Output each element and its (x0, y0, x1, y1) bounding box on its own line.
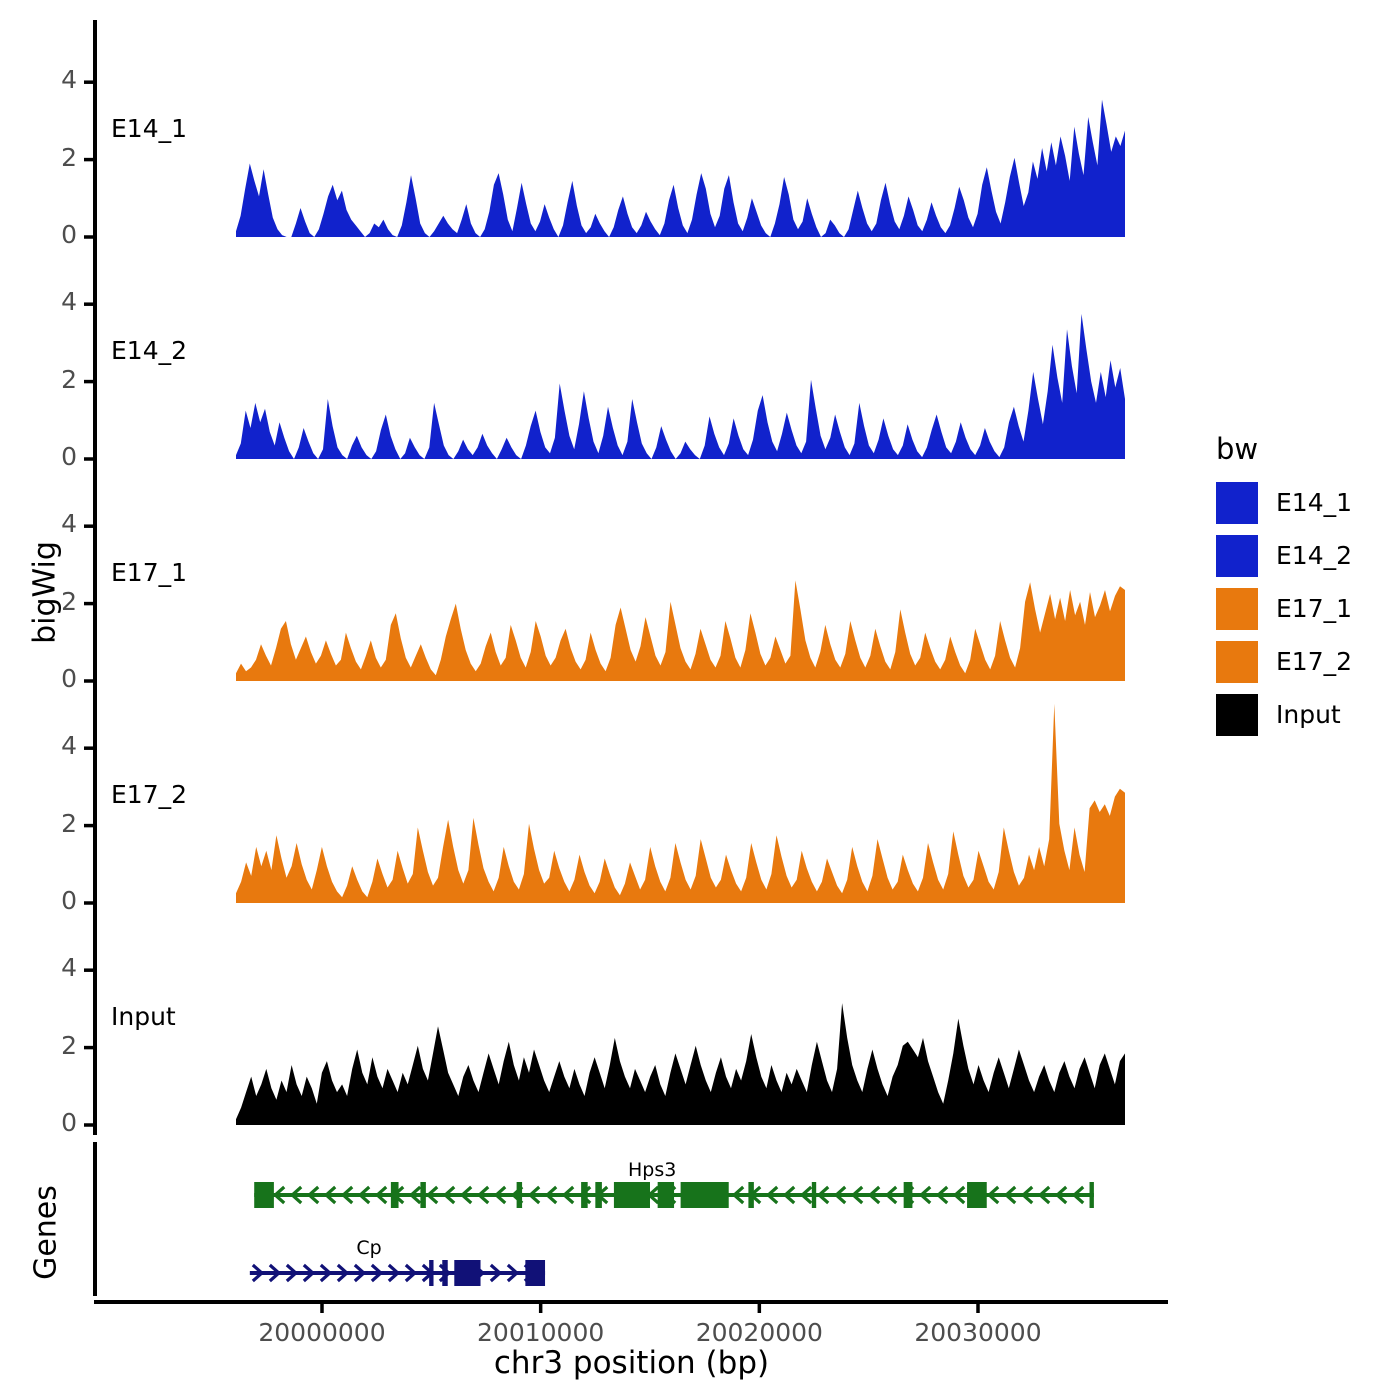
plot-canvas (0, 0, 1400, 1400)
y-tick-label: 0 (35, 220, 77, 249)
legend-swatch-Input[interactable] (1216, 694, 1258, 736)
panel-axis-E14_1 (84, 20, 95, 247)
legend-label-E14_1: E14_1 (1276, 488, 1352, 517)
panel-label-E17_2: E17_2 (111, 780, 187, 809)
x-tick-label: 20020000 (649, 1318, 869, 1347)
panel-label-E17_1: E17_1 (111, 558, 187, 587)
y-tick-label: 4 (35, 509, 77, 538)
y-tick-label: 2 (35, 143, 77, 172)
y-tick-label: 4 (35, 65, 77, 94)
panel-axis-E17_2 (84, 686, 95, 913)
gene-Hps3[interactable] (254, 1182, 1094, 1208)
x-tick-label: 20000000 (212, 1318, 432, 1347)
gene-label-Cp: Cp (309, 1237, 429, 1259)
x-tick-label: 20030000 (868, 1318, 1088, 1347)
legend-swatch-E14_1[interactable] (1216, 482, 1258, 524)
panel-label-E14_1: E14_1 (111, 114, 187, 143)
panel-axis-E17_1 (84, 464, 95, 691)
figure-root: bigWig Genes chr3 position (bp) 024E14_1… (0, 0, 1400, 1400)
y-tick-label: 4 (35, 287, 77, 316)
legend-swatch-E14_2[interactable] (1216, 535, 1258, 577)
wig-area-E14_2 (236, 314, 1125, 459)
y-tick-label: 0 (35, 664, 77, 693)
wig-area-Input (236, 1003, 1125, 1125)
legend-label-E14_2: E14_2 (1276, 541, 1352, 570)
legend-swatch-E17_2[interactable] (1216, 641, 1258, 683)
panel-label-Input: Input (111, 1002, 176, 1031)
y-tick-label: 2 (35, 809, 77, 838)
legend-label-Input: Input (1276, 700, 1341, 729)
gene-Cp[interactable] (250, 1260, 545, 1286)
y-tick-label: 2 (35, 587, 77, 616)
y-tick-label: 4 (35, 731, 77, 760)
legend-title: bw (1216, 432, 1258, 466)
panel-label-E14_2: E14_2 (111, 336, 187, 365)
y-tick-label: 0 (35, 1108, 77, 1137)
y-tick-label: 0 (35, 886, 77, 915)
y-tick-label: 2 (35, 365, 77, 394)
wig-area-E17_1 (236, 580, 1125, 681)
y-tick-label: 0 (35, 442, 77, 471)
x-tick-label: 20010000 (431, 1318, 651, 1347)
panel-axis-Input (84, 908, 95, 1135)
wig-area-E17_2 (236, 704, 1125, 903)
wig-area-E14_1 (236, 100, 1125, 237)
y-tick-label: 2 (35, 1031, 77, 1060)
y-tick-label: 4 (35, 953, 77, 982)
panel-axis-E14_2 (84, 242, 95, 469)
gene-label-Hps3: Hps3 (592, 1159, 712, 1181)
legend-label-E17_2: E17_2 (1276, 647, 1352, 676)
legend-label-E17_1: E17_1 (1276, 594, 1352, 623)
legend-swatch-E17_1[interactable] (1216, 588, 1258, 630)
